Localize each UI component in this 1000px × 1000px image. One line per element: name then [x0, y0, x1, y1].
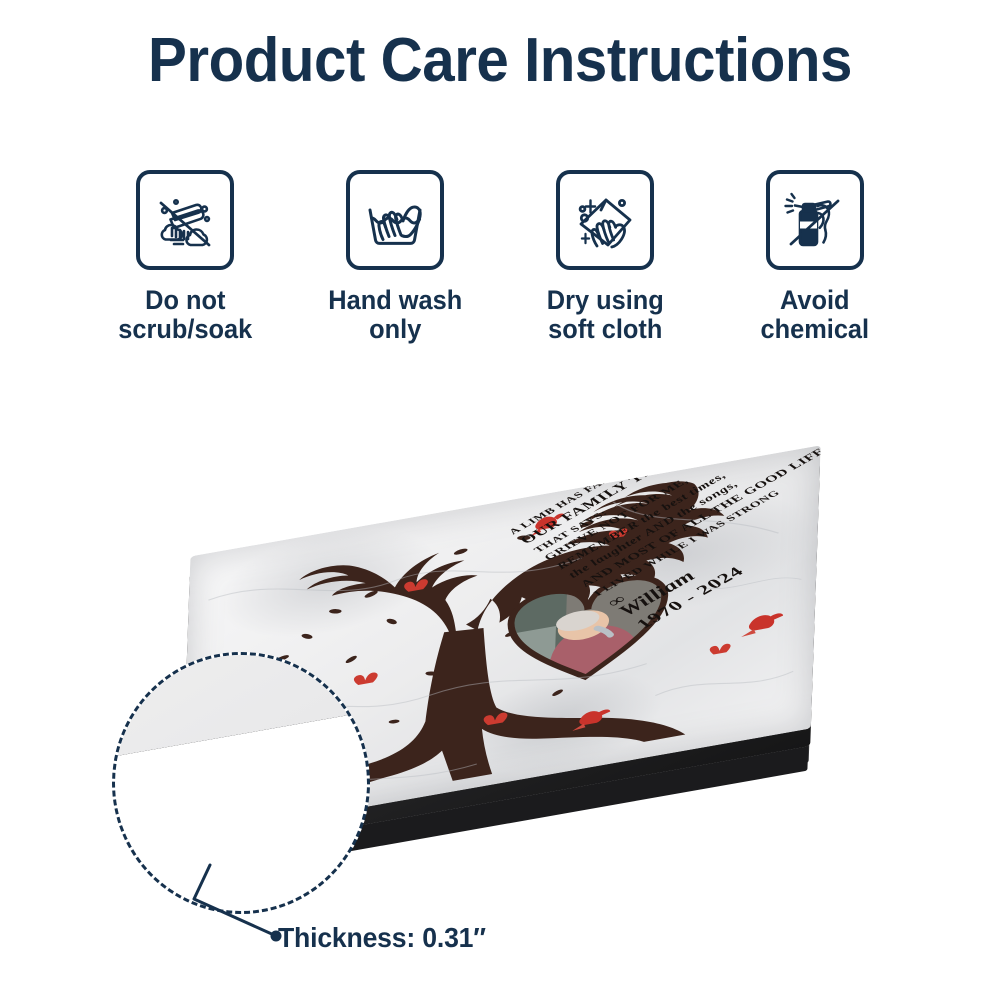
page-title: Product Care Instructions	[30, 28, 970, 93]
care-instructions-row: Do not scrub/soak Hand wash only	[0, 170, 1000, 380]
care-item-avoid-chemical: Avoid chemical	[710, 170, 920, 344]
hand-with-cloth-icon	[556, 170, 654, 270]
care-item-dry-soft-cloth: Dry using soft cloth	[500, 170, 710, 344]
magnified-trunk-detail	[112, 652, 370, 874]
hand-wash-basin-icon	[346, 170, 444, 270]
care-label-dry-soft-cloth: Dry using soft cloth	[546, 286, 663, 344]
no-spray-bottle-icon	[766, 170, 864, 270]
product-care-page: Product Care Instructions	[0, 0, 1000, 1000]
care-item-hand-wash: Hand wash only	[290, 170, 500, 344]
care-label-avoid-chemical: Avoid chemical	[761, 286, 870, 344]
care-item-do-not-scrub: Do not scrub/soak	[80, 170, 290, 344]
care-label-do-not-scrub: Do not scrub/soak	[118, 286, 252, 344]
no-scrub-brush-icon	[136, 170, 234, 270]
care-label-hand-wash: Hand wash only	[328, 286, 462, 344]
thickness-label: Thickness: 0.31″	[278, 922, 486, 954]
